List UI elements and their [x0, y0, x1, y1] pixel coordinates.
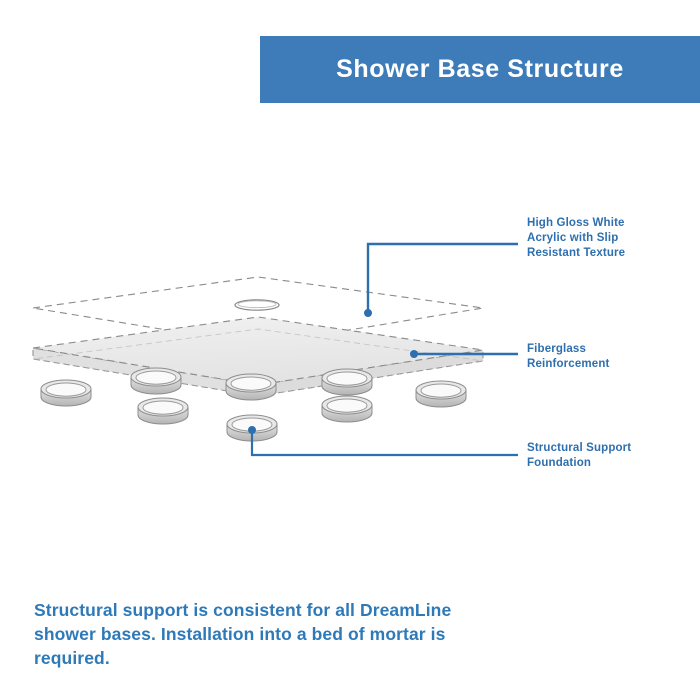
- leader-dot-fiberglass: [410, 350, 418, 358]
- drain-opening: [235, 300, 279, 310]
- callout-label-foundation: Structural Support Foundation: [527, 441, 631, 471]
- footer-caption: Structural support is consistent for all…: [34, 598, 504, 670]
- support-ring: [131, 368, 181, 394]
- support-ring: [226, 374, 276, 400]
- callout-label-acrylic: High Gloss White Acrylic with Slip Resis…: [527, 216, 625, 261]
- support-ring: [416, 381, 466, 407]
- leader-dot-acrylic: [364, 309, 372, 317]
- leader-dot-foundation: [248, 426, 256, 434]
- support-ring: [322, 369, 372, 395]
- support-ring: [322, 396, 372, 422]
- diagram-page: Shower Base Structure: [0, 0, 700, 700]
- leader-line-foundation: [248, 426, 518, 455]
- support-ring: [138, 398, 188, 424]
- support-ring: [41, 380, 91, 406]
- callout-label-fiberglass: Fiberglass Reinforcement: [527, 342, 609, 372]
- leader-line-acrylic: [364, 244, 518, 317]
